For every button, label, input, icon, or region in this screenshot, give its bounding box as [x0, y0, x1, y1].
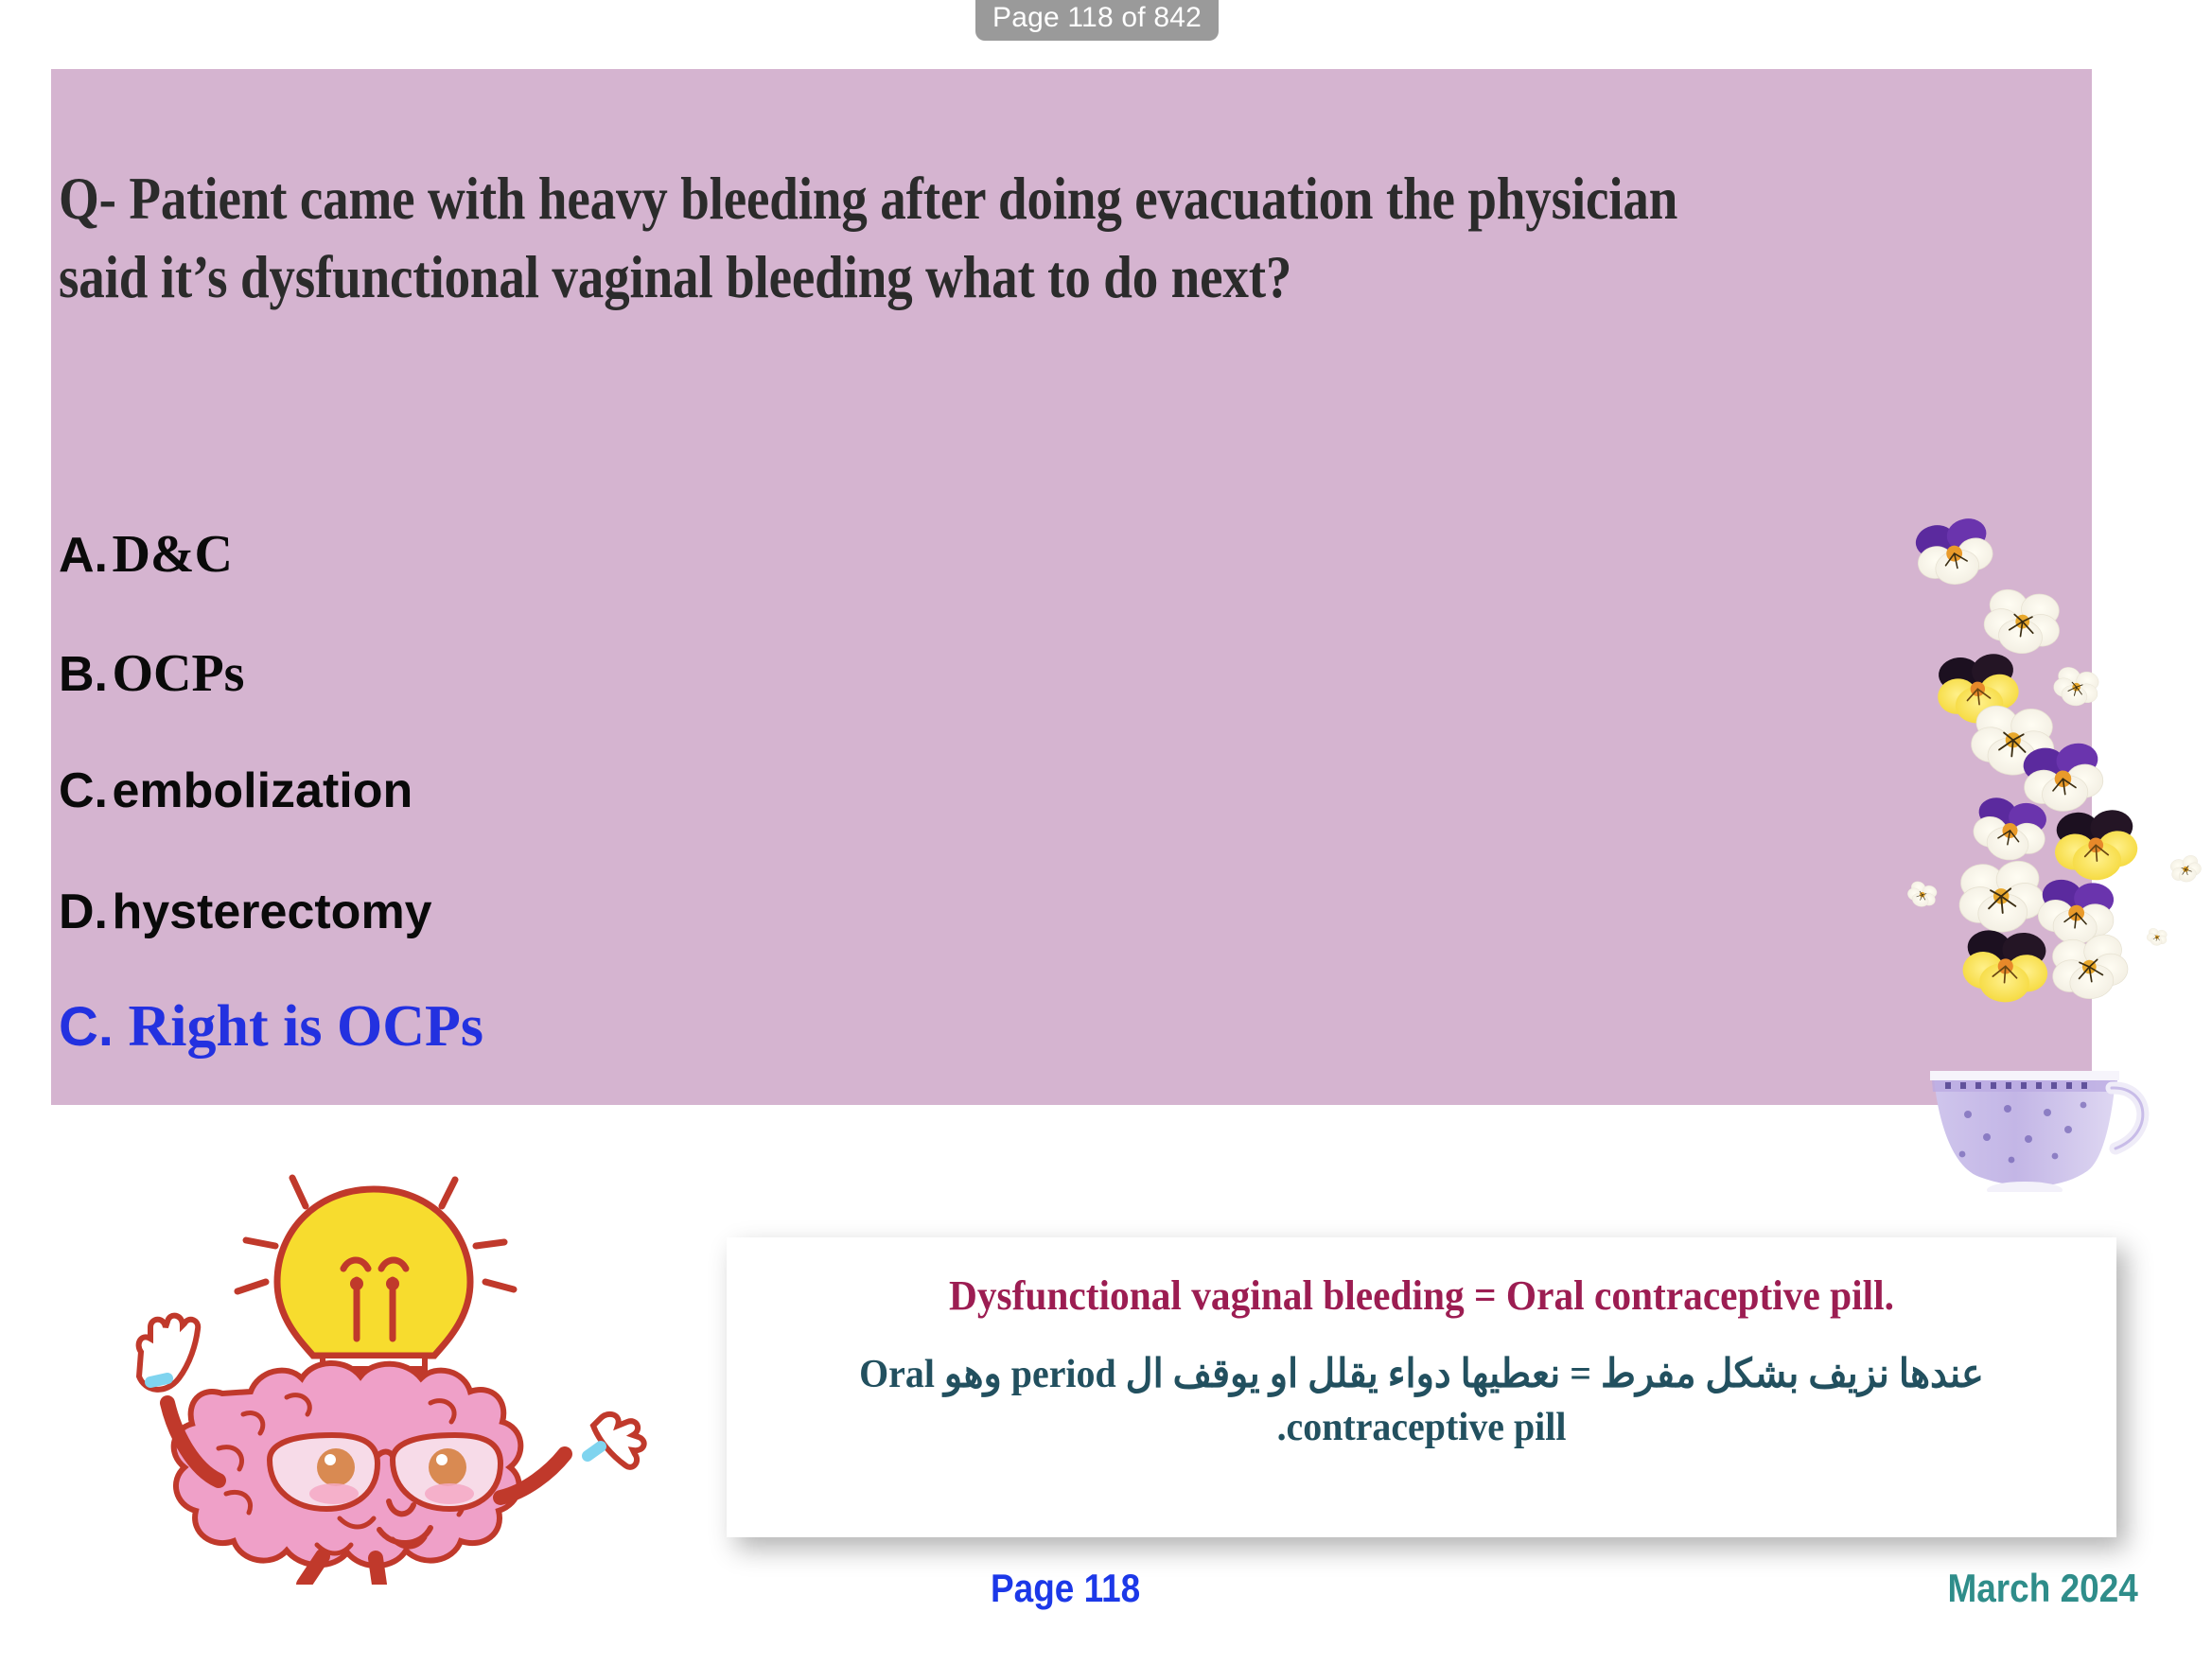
option-c[interactable]: C. embolization [59, 762, 413, 819]
brain-mascot-illustration [109, 1102, 658, 1585]
correct-answer-text: Right is OCPs [129, 994, 483, 1059]
option-a-label: D&C [112, 525, 233, 584]
correct-answer-key: C. [59, 996, 114, 1058]
explanation-card: Dysfunctional vaginal bleeding = Oral co… [727, 1237, 2116, 1537]
option-b-label: OCPs [112, 644, 244, 703]
explanation-arabic-text: عندها نزيف بشكل مفرط = نعطيها دواء يقلل … [788, 1348, 2055, 1455]
option-b-key: B. [59, 647, 108, 702]
option-c-label: embolization [112, 763, 413, 818]
option-d[interactable]: D. hysterectomy [59, 884, 432, 940]
footer-page-label: Page 118 [991, 1566, 1140, 1611]
option-c-key: C. [59, 763, 108, 818]
explanation-english-text: Dysfunctional vaginal bleeding = Oral co… [795, 1271, 2047, 1322]
brain-body [174, 1363, 521, 1566]
footer-date-label: March 2024 [1948, 1566, 2138, 1611]
question-text: Q- Patient came with heavy bleeding afte… [59, 159, 1711, 316]
option-a-key: A. [59, 528, 108, 583]
option-d-label: hysterectomy [112, 885, 431, 939]
correct-answer-line: C. Right is OCPs [59, 993, 483, 1060]
option-b[interactable]: B. OCPs [59, 643, 244, 704]
option-d-key: D. [59, 885, 108, 939]
option-a[interactable]: A. D&C [59, 524, 233, 585]
page-indicator-badge: Page 118 of 842 [975, 0, 1219, 41]
